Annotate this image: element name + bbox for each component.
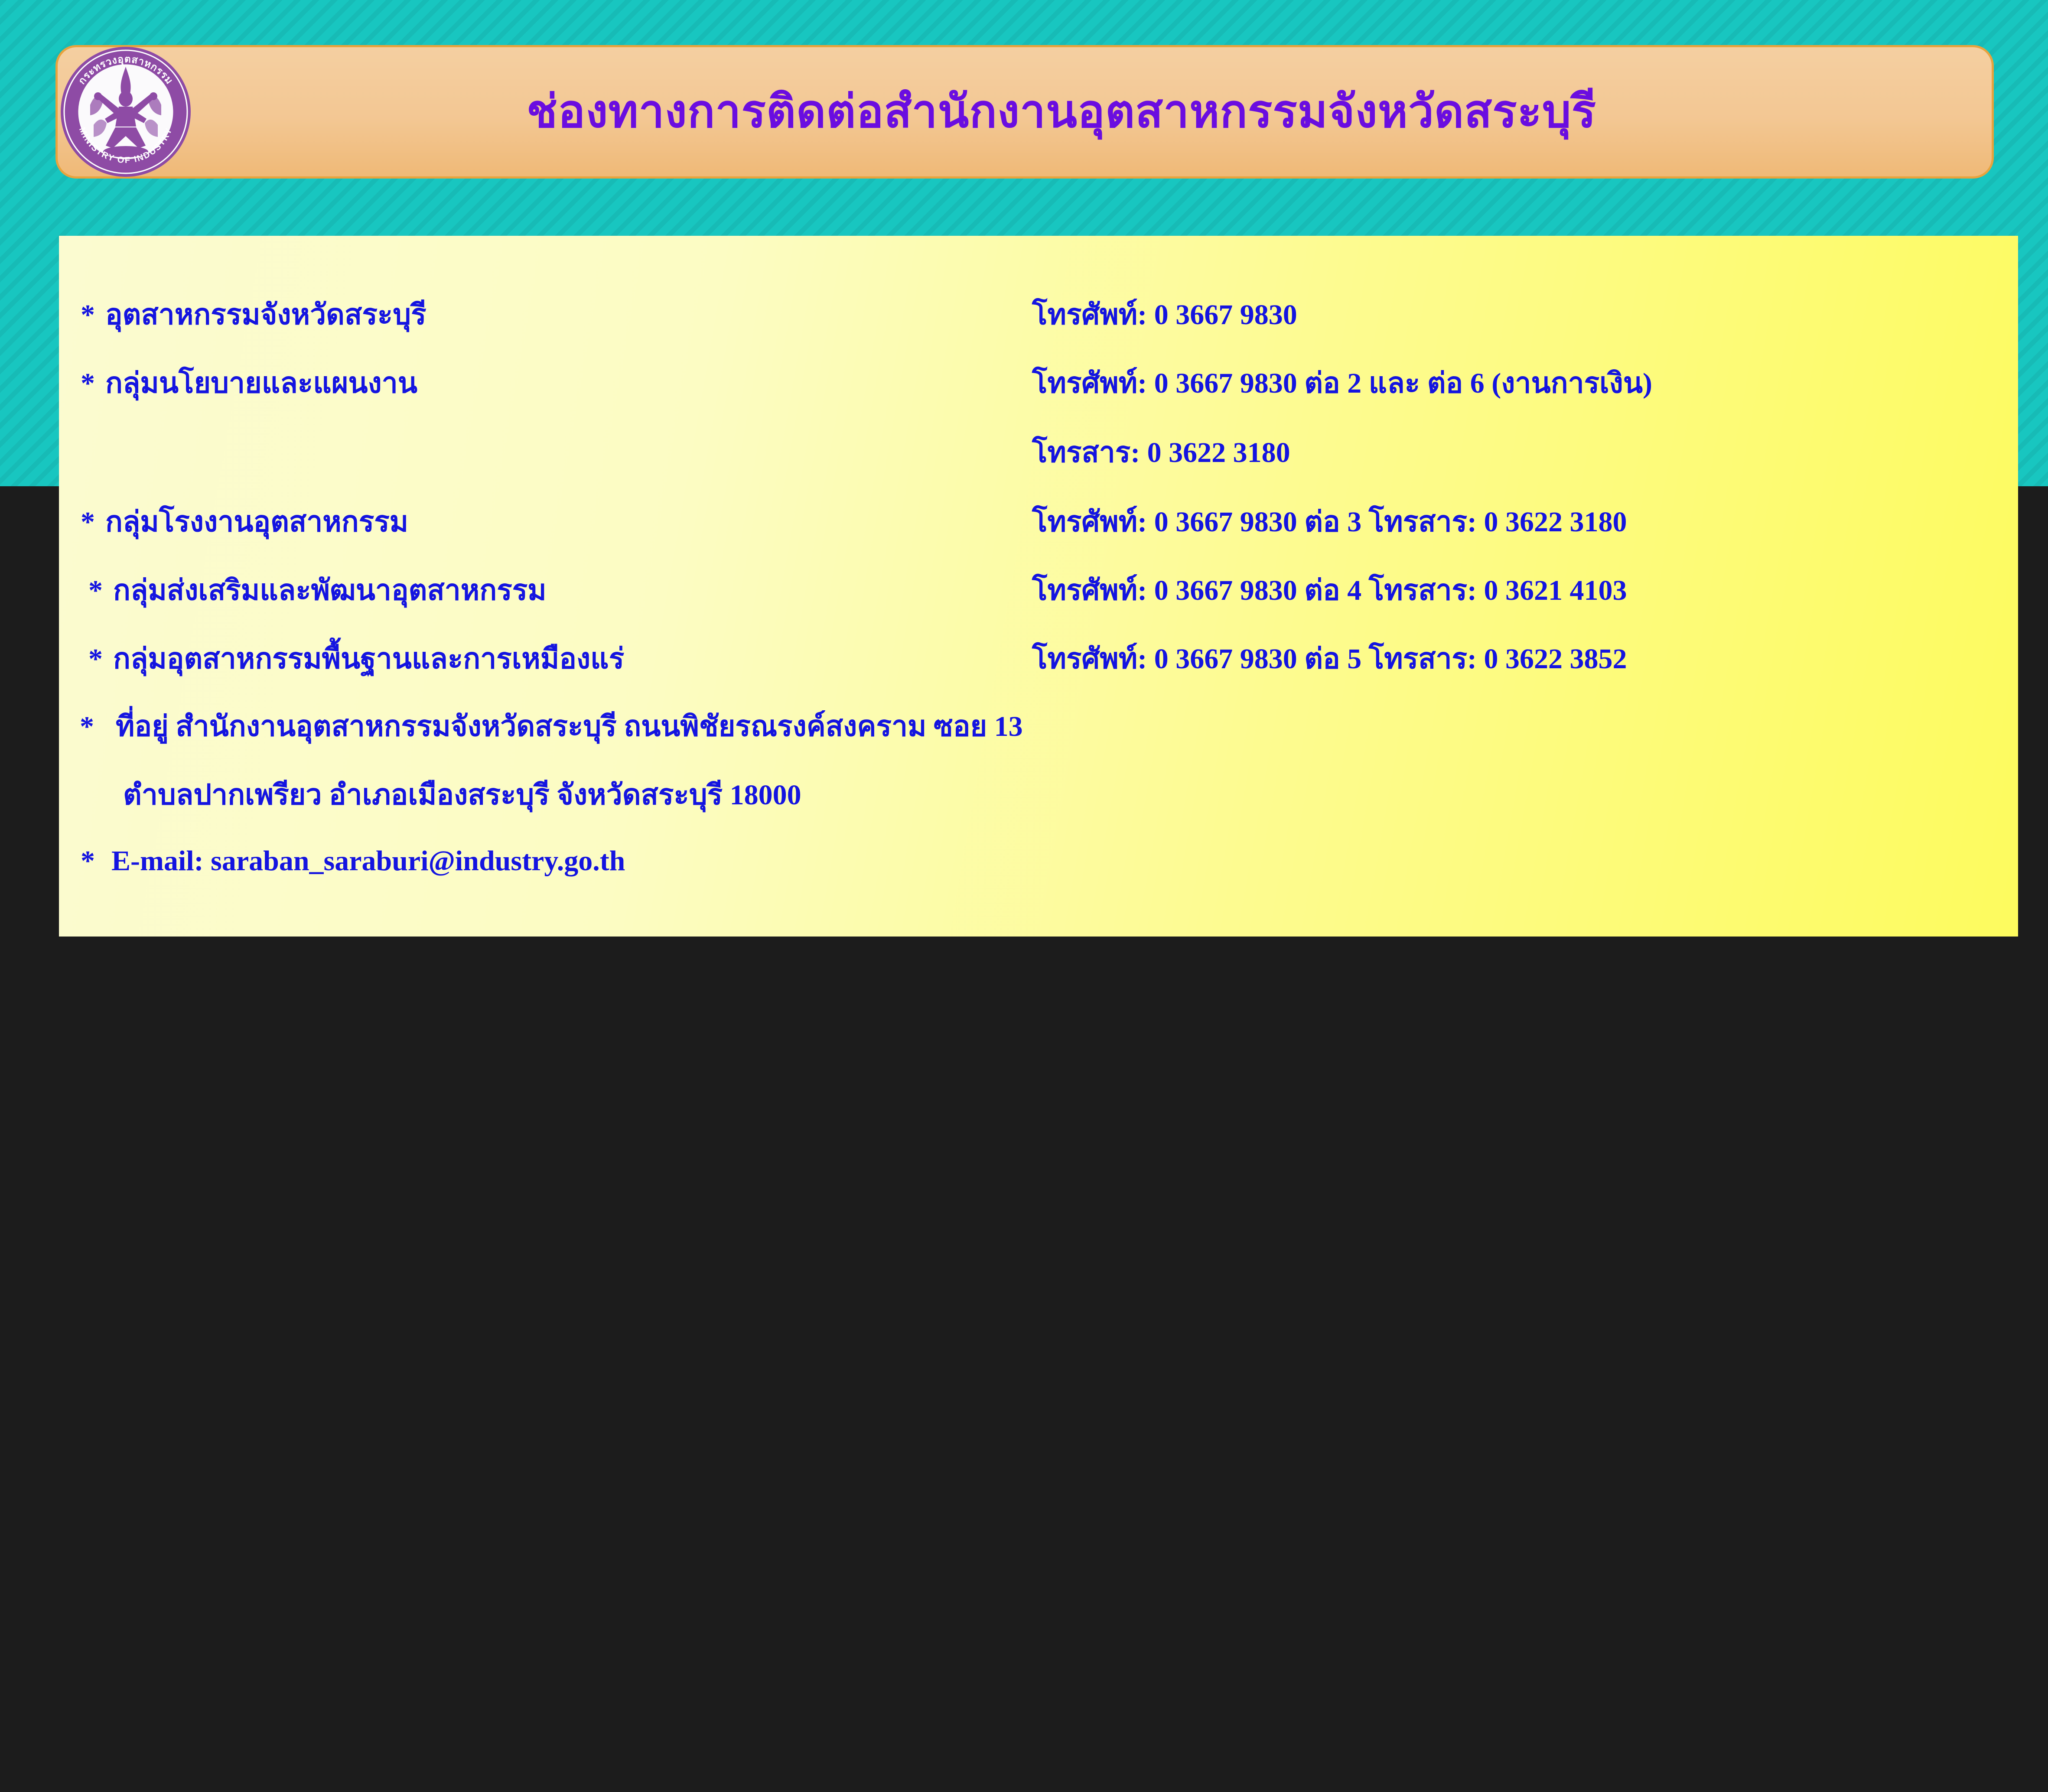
phone-fax-value: โทรศัพท์: 0 3667 9830 ต่อ 4 โทรสาร: 0 36… bbox=[1032, 576, 1627, 605]
bullet-marker: * bbox=[88, 576, 103, 605]
contact-value: โทรศัพท์: 0 3667 9830 ต่อ 3 โทรสาร: 0 36… bbox=[1032, 508, 1627, 537]
ministry-of-industry-seal-icon: กระทรวงอุตสาหกรรม MINISTRY OF INDUSTRY bbox=[56, 40, 195, 181]
bullet-marker: * bbox=[88, 645, 103, 673]
phone-value: โทรศัพท์: 0 3667 9830 bbox=[1032, 301, 1297, 329]
contact-row: * กลุ่มนโยบายและแผนงาน bbox=[81, 369, 417, 398]
bullet-marker: * bbox=[81, 301, 95, 329]
bullet-marker: * bbox=[81, 847, 95, 875]
contact-row: * กลุ่มส่งเสริมและพัฒนาอุตสาหกรรม bbox=[88, 576, 547, 605]
address-line-2: ตำบลปากเพรียว อำเภอเมืองสระบุรี จังหวัดส… bbox=[123, 781, 801, 810]
contact-value: โทรศัพท์: 0 3667 9830 bbox=[1032, 301, 1297, 329]
phone-fax-value: โทรศัพท์: 0 3667 9830 ต่อ 3 โทรสาร: 0 36… bbox=[1032, 508, 1627, 537]
division-name: กลุ่มนโยบายและแผนงาน bbox=[105, 369, 417, 398]
contact-row: * กลุ่มอุตสาหกรรมพื้นฐานและการเหมืองแร่ bbox=[88, 645, 624, 673]
contact-value: โทรศัพท์: 0 3667 9830 ต่อ 5 โทรสาร: 0 36… bbox=[1032, 645, 1627, 673]
contact-row: * กลุ่มโรงงานอุตสาหกรรม bbox=[81, 508, 408, 537]
page-title: ช่องทางการติดต่อสำนักงานอุตสาหกรรมจังหวั… bbox=[58, 88, 1992, 136]
contact-value: โทรศัพท์: 0 3667 9830 ต่อ 4 โทรสาร: 0 36… bbox=[1032, 576, 1627, 605]
address-row: * ที่อยู่ สำนักงานอุตสาหกรรมจังหวัดสระบุ… bbox=[80, 712, 1023, 741]
address-line-1: ที่อยู่ สำนักงานอุตสาหกรรมจังหวัดสระบุรี… bbox=[116, 712, 1023, 741]
bullet-marker: * bbox=[80, 712, 94, 741]
fax-value: โทรสาร: 0 3622 3180 bbox=[1032, 439, 1290, 467]
bullet-marker: * bbox=[81, 369, 95, 398]
contact-row: * อุตสาหกรรมจังหวัดสระบุรี bbox=[81, 301, 427, 329]
contact-value: โทรศัพท์: 0 3667 9830 ต่อ 2 และ ต่อ 6 (ง… bbox=[1032, 369, 1652, 398]
email-address: E-mail: saraban_saraburi@industry.go.th bbox=[111, 847, 625, 875]
phone-value: โทรศัพท์: 0 3667 9830 ต่อ 2 และ ต่อ 6 (ง… bbox=[1032, 369, 1652, 398]
division-name: กลุ่มอุตสาหกรรมพื้นฐานและการเหมืองแร่ bbox=[113, 645, 624, 673]
bullet-marker: * bbox=[81, 508, 95, 537]
contact-info-panel: * อุตสาหกรรมจังหวัดสระบุรี โทรศัพท์: 0 3… bbox=[59, 236, 2018, 937]
email-row: * E-mail: saraban_saraburi@industry.go.t… bbox=[81, 847, 625, 875]
division-name: กลุ่มส่งเสริมและพัฒนาอุตสาหกรรม bbox=[113, 576, 547, 605]
header-banner: ช่องทางการติดต่อสำนักงานอุตสาหกรรมจังหวั… bbox=[55, 45, 1994, 179]
contact-value: โทรสาร: 0 3622 3180 bbox=[1032, 439, 1290, 467]
division-name: อุตสาหกรรมจังหวัดสระบุรี bbox=[105, 301, 427, 329]
phone-fax-value: โทรศัพท์: 0 3667 9830 ต่อ 5 โทรสาร: 0 36… bbox=[1032, 645, 1627, 673]
division-name: กลุ่มโรงงานอุตสาหกรรม bbox=[105, 508, 408, 537]
